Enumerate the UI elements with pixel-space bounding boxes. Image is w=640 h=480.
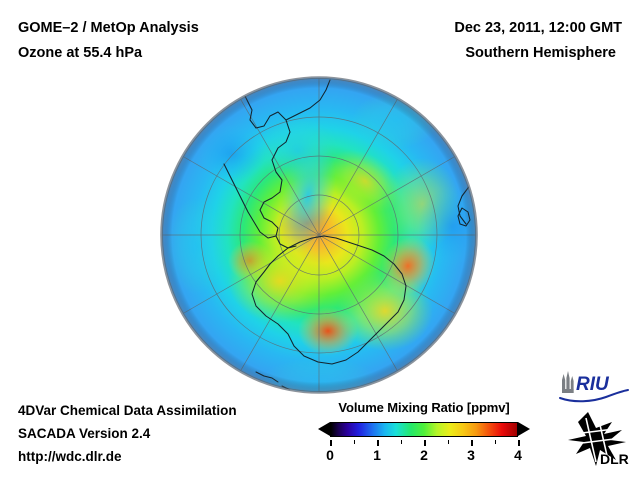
website-link[interactable]: http://wdc.dlr.de bbox=[18, 445, 237, 468]
riu-logo-text: RIU bbox=[576, 374, 610, 395]
colorbar-tick-label: 3 bbox=[467, 447, 475, 463]
colorbar: Volume Mixing Ratio [ppmv] 01234 bbox=[318, 400, 530, 466]
colorbar-cap-high bbox=[518, 422, 530, 436]
limb-shading bbox=[161, 77, 477, 393]
footer-info: 4DVar Chemical Data Assimilation SACADA … bbox=[18, 399, 237, 468]
assimilation-label: 4DVar Chemical Data Assimilation bbox=[18, 399, 237, 422]
orthographic-projection bbox=[160, 76, 480, 396]
globe-map bbox=[160, 76, 480, 396]
colorbar-gradient bbox=[330, 422, 518, 437]
colorbar-tick-minor bbox=[448, 440, 450, 444]
riu-logo: RIU bbox=[558, 369, 630, 403]
colorbar-tick-label: 2 bbox=[420, 447, 428, 463]
colorbar-tick-label: 1 bbox=[373, 447, 381, 463]
dlr-logo-text: DLR bbox=[600, 451, 629, 467]
version-label: SACADA Version 2.4 bbox=[18, 422, 237, 445]
colorbar-tick-label: 4 bbox=[514, 447, 522, 463]
colorbar-row bbox=[318, 420, 530, 440]
colorbar-tick-minor bbox=[401, 440, 403, 444]
colorbar-tick-labels: 01234 bbox=[330, 446, 518, 466]
colorbar-tick-minor bbox=[354, 440, 356, 444]
dlr-logo: DLR bbox=[566, 410, 632, 468]
colorbar-tick-minor bbox=[495, 440, 497, 444]
ozone-analysis-figure: GOME–2 / MetOp Analysis Ozone at 55.4 hP… bbox=[0, 0, 640, 480]
timestamp-label: Dec 23, 2011, 12:00 GMT bbox=[292, 16, 622, 41]
colorbar-cap-low bbox=[318, 422, 330, 436]
hemisphere-label: Southern Hemisphere bbox=[292, 41, 622, 66]
header-right: Dec 23, 2011, 12:00 GMT Southern Hemisph… bbox=[292, 16, 622, 66]
riu-tower-icon bbox=[562, 371, 574, 393]
colorbar-tick-major bbox=[518, 440, 520, 446]
colorbar-title: Volume Mixing Ratio [ppmv] bbox=[318, 400, 530, 415]
colorbar-tick-label: 0 bbox=[326, 447, 334, 463]
